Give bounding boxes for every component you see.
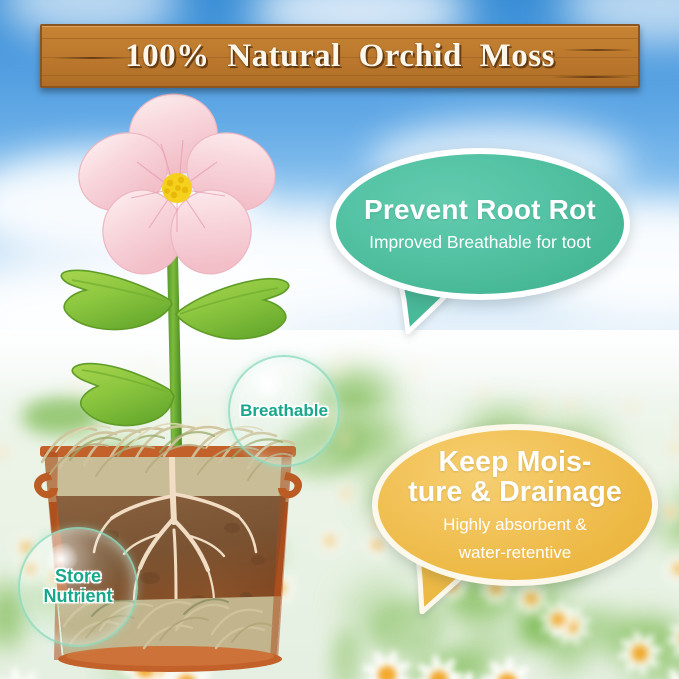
daisy-center <box>672 445 679 452</box>
daisy-flower <box>0 665 49 679</box>
callout-title: Prevent Root Rot <box>364 195 596 225</box>
daisy-center <box>378 665 397 679</box>
daisy-flower <box>111 501 138 528</box>
daisy-flower <box>48 465 71 488</box>
daisy-center <box>550 612 565 627</box>
daisy-center <box>666 507 675 516</box>
daisy-flower <box>664 614 679 662</box>
daisy-center <box>186 434 193 441</box>
daisy-flower <box>246 550 281 585</box>
callout-subtitle: Improved Breathable for toot <box>369 232 591 252</box>
daisy-center <box>88 443 95 450</box>
daisy-flower <box>97 478 121 502</box>
foliage-blob <box>149 474 225 510</box>
daisy-center <box>342 434 349 441</box>
daisy-flower <box>360 647 416 679</box>
daisy-flower <box>674 416 679 434</box>
daisy-petal <box>666 667 679 679</box>
bubble-label-text: Breathable <box>228 355 340 467</box>
daisy-flower <box>623 397 640 414</box>
daisy-center <box>537 404 543 410</box>
page-title: 100% Natural Orchid Moss <box>42 26 638 86</box>
daisy-flower <box>82 437 102 457</box>
callout-subtitle-line1: Highly absorbent & <box>443 515 587 535</box>
daisy-flower <box>531 399 548 416</box>
daisy-center <box>258 561 270 573</box>
daisy-center <box>524 592 538 606</box>
callout-subtitle-line2: water-retentive <box>459 543 571 563</box>
bubble-label-breathable[interactable]: Breathable <box>228 355 340 467</box>
bubble-label-line: Nutrient <box>44 587 113 607</box>
bubble-text: Keep Mois- ture & Drainage Highly absorb… <box>372 424 658 586</box>
daisy-center <box>231 501 240 510</box>
daisy-flower <box>652 664 679 679</box>
bubble-label-text: Store Nutrient <box>18 527 138 647</box>
foliage-blob <box>331 630 361 679</box>
daisy-center <box>568 402 574 408</box>
daisy-flower <box>222 493 248 519</box>
bubble-text: Prevent Root Rot Improved Breathable for… <box>330 148 630 300</box>
foliage-blob <box>22 397 101 435</box>
daisy-center <box>673 563 679 575</box>
infographic-canvas: Prevent Root Rot Improved Breathable for… <box>0 0 679 679</box>
callout-title-line1: Keep Mois- <box>438 447 591 477</box>
bubble-label-line: Breathable <box>240 402 328 421</box>
daisy-center <box>230 538 241 549</box>
bubble-label-line: Store <box>55 567 101 587</box>
daisy-flower <box>662 552 679 587</box>
daisy-flower <box>225 606 271 652</box>
callout-keep-moisture-drainage[interactable]: Keep Mois- ture & Drainage Highly absorb… <box>372 424 658 586</box>
daisy-flower <box>180 427 199 446</box>
daisy-flower <box>657 498 679 525</box>
callout-prevent-root-rot[interactable]: Prevent Root Rot Improved Breathable for… <box>330 148 630 300</box>
daisy-center <box>240 621 256 637</box>
daisy-flower <box>410 651 467 679</box>
daisy-flower <box>665 438 679 458</box>
daisy-flower <box>333 482 357 506</box>
wooden-header-sign: 100% Natural Orchid Moss <box>40 24 640 88</box>
daisy-center <box>136 660 155 679</box>
daisy-petal <box>9 667 24 679</box>
daisy-center <box>55 472 63 480</box>
callout-title-line2: ture & Drainage <box>408 477 622 507</box>
bubble-label-store-nutrient[interactable]: Store Nutrient <box>18 527 138 647</box>
daisy-center <box>629 403 635 409</box>
daisy-flower <box>315 526 346 557</box>
daisy-petal <box>666 634 679 646</box>
daisy-flower <box>0 443 13 463</box>
daisy-flower <box>118 642 172 679</box>
